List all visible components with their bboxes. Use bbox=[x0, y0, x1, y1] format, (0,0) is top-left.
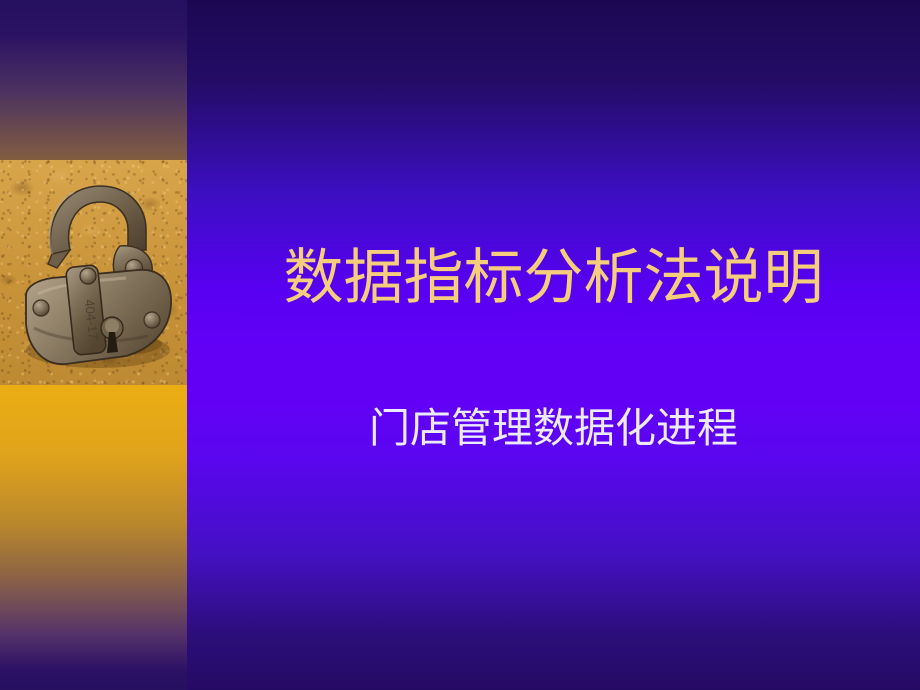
slide-text-area: 数据指标分析法说明 门店管理数据化进程 bbox=[187, 0, 920, 690]
decorative-side-band: 404-17 bbox=[0, 0, 187, 690]
slide-canvas: 404-17 数据指标分析法说明 门店管理数据化进程 bbox=[0, 0, 920, 690]
slide-subtitle: 门店管理数据化进程 bbox=[187, 402, 920, 454]
slide-title: 数据指标分析法说明 bbox=[187, 242, 920, 314]
padlock-photo: 404-17 bbox=[0, 160, 187, 385]
padlock-icon: 404-17 bbox=[8, 168, 180, 378]
